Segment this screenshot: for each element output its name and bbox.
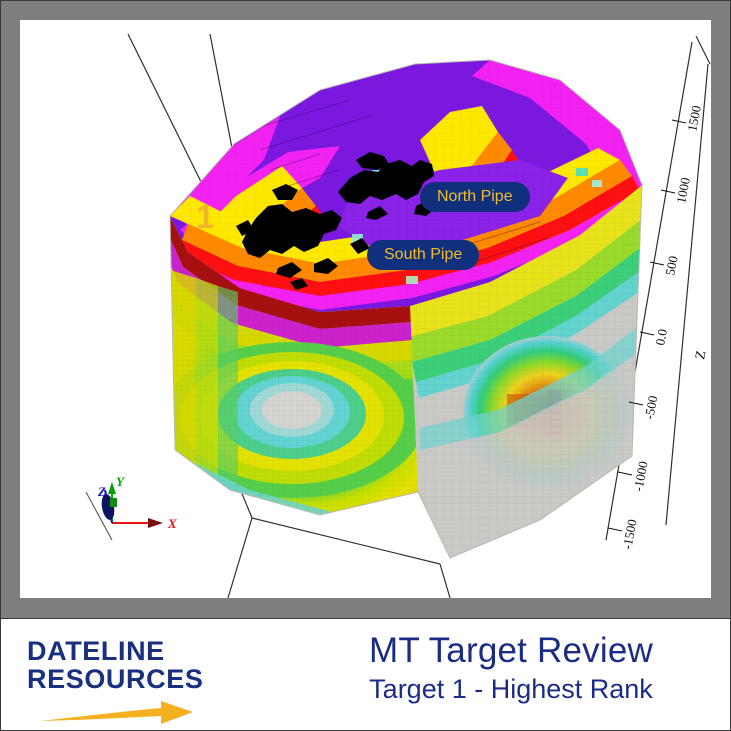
3d-voxel-model[interactable]: 1500 1000 500 0.0 -500 -1000 -1500 Z	[20, 20, 711, 598]
target-1-number: 1	[196, 200, 214, 233]
z-tick-m1000: -1000	[630, 460, 651, 493]
right-arrow-icon	[37, 699, 227, 725]
slide-root: 1500 1000 500 0.0 -500 -1000 -1500 Z	[0, 0, 731, 731]
z-tick-0: 0.0	[652, 328, 670, 347]
model-plot-canvas[interactable]: 1500 1000 500 0.0 -500 -1000 -1500 Z	[20, 20, 711, 598]
triad-z-label: Z	[97, 484, 106, 499]
z-tick-m1500: -1500	[619, 518, 640, 551]
orientation-triad: X Y Z	[86, 474, 177, 540]
label-south-pipe[interactable]: South Pipe	[367, 240, 479, 270]
footer-title-block: MT Target Review Target 1 - Highest Rank	[301, 631, 721, 706]
logo-line-dateline: DATELINE	[27, 637, 257, 665]
z-tick-1500: 1500	[684, 104, 704, 132]
slide-footer: DATELINE RESOURCES MT Target Review Targ…	[0, 618, 731, 731]
page-title: MT Target Review	[301, 631, 721, 671]
footer-inner: DATELINE RESOURCES MT Target Review Targ…	[1, 619, 730, 730]
z-tick-1000: 1000	[673, 176, 693, 204]
page-subtitle: Target 1 - Highest Rank	[301, 672, 721, 706]
label-north-pipe[interactable]: North Pipe	[420, 182, 530, 212]
triad-x-label: X	[167, 516, 177, 531]
z-axis-label: Z	[693, 349, 709, 360]
logo-line-resources: RESOURCES	[27, 665, 257, 693]
triad-y-label: Y	[116, 474, 125, 489]
z-tick-m500: -500	[641, 394, 660, 420]
z-tick-500: 500	[662, 255, 680, 277]
company-logo[interactable]: DATELINE RESOURCES	[27, 637, 257, 693]
